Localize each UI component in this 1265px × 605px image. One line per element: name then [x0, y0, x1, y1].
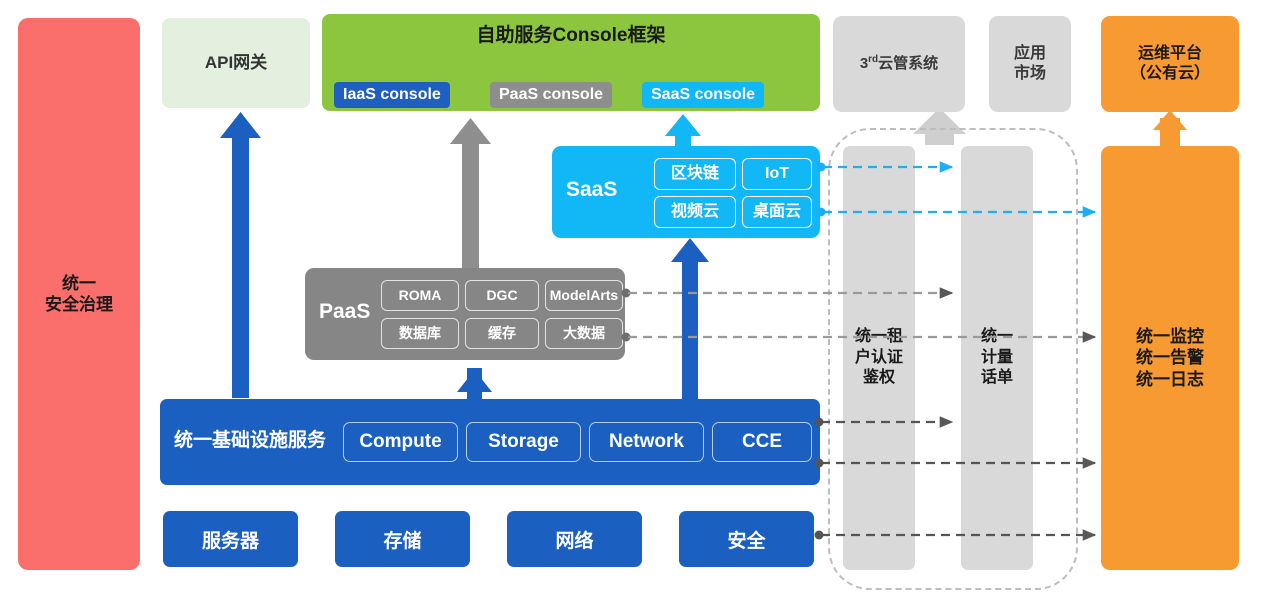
third-party-cloud-mgmt-box[interactable]: 3rd云管系统	[833, 16, 965, 112]
saas-chip-iot[interactable]: IoT	[742, 158, 812, 190]
saas-chip-desktop-cloud[interactable]: 桌面云	[742, 196, 812, 228]
app-market-line2: 市场	[1014, 64, 1046, 84]
unified-infrastructure-label: 统一基础设施服务	[174, 429, 326, 453]
infra-chip-storage-label: Storage	[488, 430, 559, 454]
security-governance-line1: 统一	[45, 273, 113, 294]
paas-chip-dgc[interactable]: DGC	[465, 280, 539, 311]
paas-chip-roma-label: ROMA	[399, 287, 442, 305]
paas-chip-modelarts-label: ModelArts	[550, 287, 618, 305]
saas-console-label: SaaS console	[651, 85, 755, 105]
infra-chip-cce[interactable]: CCE	[712, 422, 812, 462]
infra-chip-cce-label: CCE	[742, 430, 782, 454]
paas-chip-bigdata-label: 大数据	[563, 325, 605, 343]
ops-body-line3: 统一日志	[1136, 369, 1204, 390]
hardware-tile-security[interactable]: 安全	[679, 511, 814, 567]
arrow-infra-to-paas	[457, 368, 492, 400]
paas-chip-database[interactable]: 数据库	[381, 318, 459, 349]
infra-chip-network-label: Network	[609, 430, 684, 454]
security-governance-line2: 安全治理	[45, 294, 113, 315]
hardware-tile-storage[interactable]: 存储	[335, 511, 470, 567]
paas-block-label: PaaS	[319, 299, 370, 325]
third-cloud-prefix: 3	[860, 55, 868, 72]
hardware-tile-storage-label: 存储	[383, 526, 421, 553]
unified-infrastructure-bar: 统一基础设施服务 Compute Storage Network CCE	[160, 399, 820, 485]
iaas-console-label: IaaS console	[343, 85, 441, 105]
saas-block-label: SaaS	[566, 177, 617, 203]
arrow-ops-body-to-ops-header	[1153, 110, 1187, 148]
api-gateway-label: API网关	[205, 52, 267, 73]
saas-chip-blockchain[interactable]: 区块链	[654, 158, 736, 190]
architecture-diagram: 统一 安全治理 API网关 自助服务Console框架 IaaS console…	[0, 0, 1265, 605]
paas-chip-bigdata[interactable]: 大数据	[545, 318, 623, 349]
saas-chip-desktop-cloud-label: 桌面云	[753, 202, 801, 222]
paas-chip-modelarts[interactable]: ModelArts	[545, 280, 623, 311]
arrow-paas-to-console	[450, 118, 491, 270]
arrow-infra-to-saas	[671, 238, 709, 400]
hardware-tile-server-label: 服务器	[202, 526, 259, 553]
meter-column-line3: 话单	[981, 368, 1013, 389]
paas-chip-dgc-label: DGC	[486, 287, 517, 305]
ops-header-line2: （公有云）	[1130, 64, 1210, 84]
paas-chip-database-label: 数据库	[399, 325, 441, 343]
hardware-tile-server[interactable]: 服务器	[163, 511, 298, 567]
infra-chip-storage[interactable]: Storage	[466, 422, 581, 462]
ops-body-line1: 统一监控	[1136, 326, 1204, 347]
security-governance-panel: 统一 安全治理	[18, 18, 140, 570]
saas-chip-video-cloud-label: 视频云	[671, 202, 719, 222]
infra-chip-network[interactable]: Network	[589, 422, 704, 462]
app-market-line1: 应用	[1014, 44, 1046, 64]
meter-column-line1: 统一	[981, 327, 1013, 348]
self-service-console-frame: 自助服务Console框架 IaaS console PaaS console …	[322, 14, 820, 111]
third-cloud-superscript: rd	[868, 54, 878, 65]
saas-chip-video-cloud[interactable]: 视频云	[654, 196, 736, 228]
meter-column-line2: 计量	[981, 348, 1013, 369]
infra-chip-compute[interactable]: Compute	[343, 422, 458, 462]
unified-tenant-auth-column[interactable]: 统一租 户认证 鉴权	[843, 146, 915, 570]
paas-console-chip[interactable]: PaaS console	[490, 82, 612, 108]
iaas-console-chip[interactable]: IaaS console	[334, 82, 450, 108]
hardware-tile-security-label: 安全	[727, 526, 765, 553]
saas-chip-blockchain-label: 区块链	[671, 164, 719, 184]
third-cloud-suffix: 云管系统	[878, 55, 938, 72]
saas-block: SaaS 区块链 IoT 视频云 桌面云	[552, 146, 820, 238]
unified-metering-column[interactable]: 统一 计量 话单	[961, 146, 1033, 570]
saas-chip-iot-label: IoT	[765, 164, 789, 184]
arrow-saas-to-console	[665, 114, 701, 148]
auth-column-line1: 统一租	[855, 327, 903, 348]
paas-chip-cache[interactable]: 缓存	[465, 318, 539, 349]
ops-body-line2: 统一告警	[1136, 347, 1204, 368]
ops-platform-body-box[interactable]: 统一监控 统一告警 统一日志	[1101, 146, 1239, 570]
saas-console-chip[interactable]: SaaS console	[642, 82, 764, 108]
ops-platform-header-box[interactable]: 运维平台 （公有云）	[1101, 16, 1239, 112]
auth-column-line3: 鉴权	[855, 368, 903, 389]
auth-column-line2: 户认证	[855, 348, 903, 369]
paas-chip-cache-label: 缓存	[488, 325, 516, 343]
hardware-tile-network-label: 网络	[555, 526, 593, 553]
api-gateway-box[interactable]: API网关	[162, 18, 310, 108]
paas-console-label: PaaS console	[499, 85, 603, 105]
ops-header-line1: 运维平台	[1130, 44, 1210, 64]
console-frame-title: 自助服务Console框架	[322, 24, 820, 48]
arrow-infra-to-api-gateway	[220, 112, 261, 398]
paas-block: PaaS ROMA DGC ModelArts 数据库 缓存 大数据	[305, 268, 625, 360]
paas-chip-roma[interactable]: ROMA	[381, 280, 459, 311]
app-market-box[interactable]: 应用 市场	[989, 16, 1071, 112]
infra-chip-compute-label: Compute	[359, 430, 441, 454]
hardware-tile-network[interactable]: 网络	[507, 511, 642, 567]
